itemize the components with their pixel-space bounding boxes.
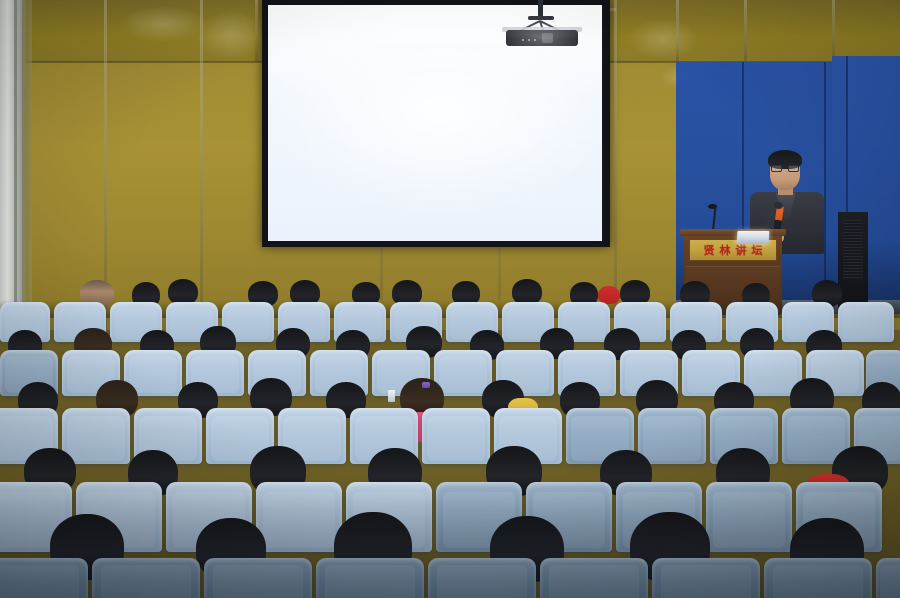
seat bbox=[638, 408, 706, 464]
hair-clip bbox=[422, 382, 430, 388]
glasses-icon bbox=[771, 165, 799, 172]
projector-indicator-icon bbox=[528, 39, 530, 41]
pa-loudspeaker-grill bbox=[843, 220, 863, 280]
seat bbox=[204, 558, 312, 598]
seat bbox=[428, 558, 536, 598]
mobile-phone bbox=[388, 390, 395, 402]
seat bbox=[764, 558, 872, 598]
wall-seam bbox=[676, 0, 679, 62]
seat bbox=[876, 558, 900, 598]
seat bbox=[92, 558, 200, 598]
slide-subtitle: ——基于判断构式隐喻分析 bbox=[268, 137, 602, 158]
university-logo: ☉ 信阳师范学院 XinYang Normal University bbox=[288, 11, 438, 41]
gooseneck-mic-head-icon bbox=[708, 204, 717, 209]
seat bbox=[316, 558, 424, 598]
seat bbox=[540, 558, 648, 598]
slide-decor-bar bbox=[332, 61, 602, 77]
seat bbox=[256, 482, 342, 552]
laptop bbox=[737, 231, 770, 244]
logo-chinese-name: 信阳师范学院 bbox=[316, 17, 379, 28]
seated-audience bbox=[0, 278, 900, 598]
slide-decor-square bbox=[296, 41, 328, 75]
lectern-top-edge bbox=[680, 229, 786, 236]
seat bbox=[62, 408, 130, 464]
wall-seam bbox=[832, 0, 835, 60]
projector-lens bbox=[542, 33, 553, 43]
ceiling-projector bbox=[492, 0, 590, 52]
projector-indicator-icon bbox=[522, 39, 524, 41]
lecture-hall-photo: ☉ 信阳师范学院 XinYang Normal University 范畴映射的… bbox=[0, 0, 900, 598]
seat bbox=[652, 558, 760, 598]
wall-seam bbox=[255, 0, 258, 62]
logo-english-name: XinYang Normal University bbox=[316, 30, 379, 35]
seat bbox=[0, 558, 88, 598]
projector-indicator-icon bbox=[534, 39, 536, 41]
lectern-plaque-text: 贤林讲坛 bbox=[699, 242, 768, 258]
seat bbox=[422, 408, 490, 464]
university-seal-icon: ☉ bbox=[288, 15, 311, 38]
slide-author-line: 信阳师范学院外国语学院 刘世理 bbox=[268, 170, 602, 189]
wall-seam bbox=[744, 0, 747, 62]
seat bbox=[706, 482, 792, 552]
seat bbox=[838, 302, 894, 342]
microphone-head-icon bbox=[774, 202, 783, 209]
